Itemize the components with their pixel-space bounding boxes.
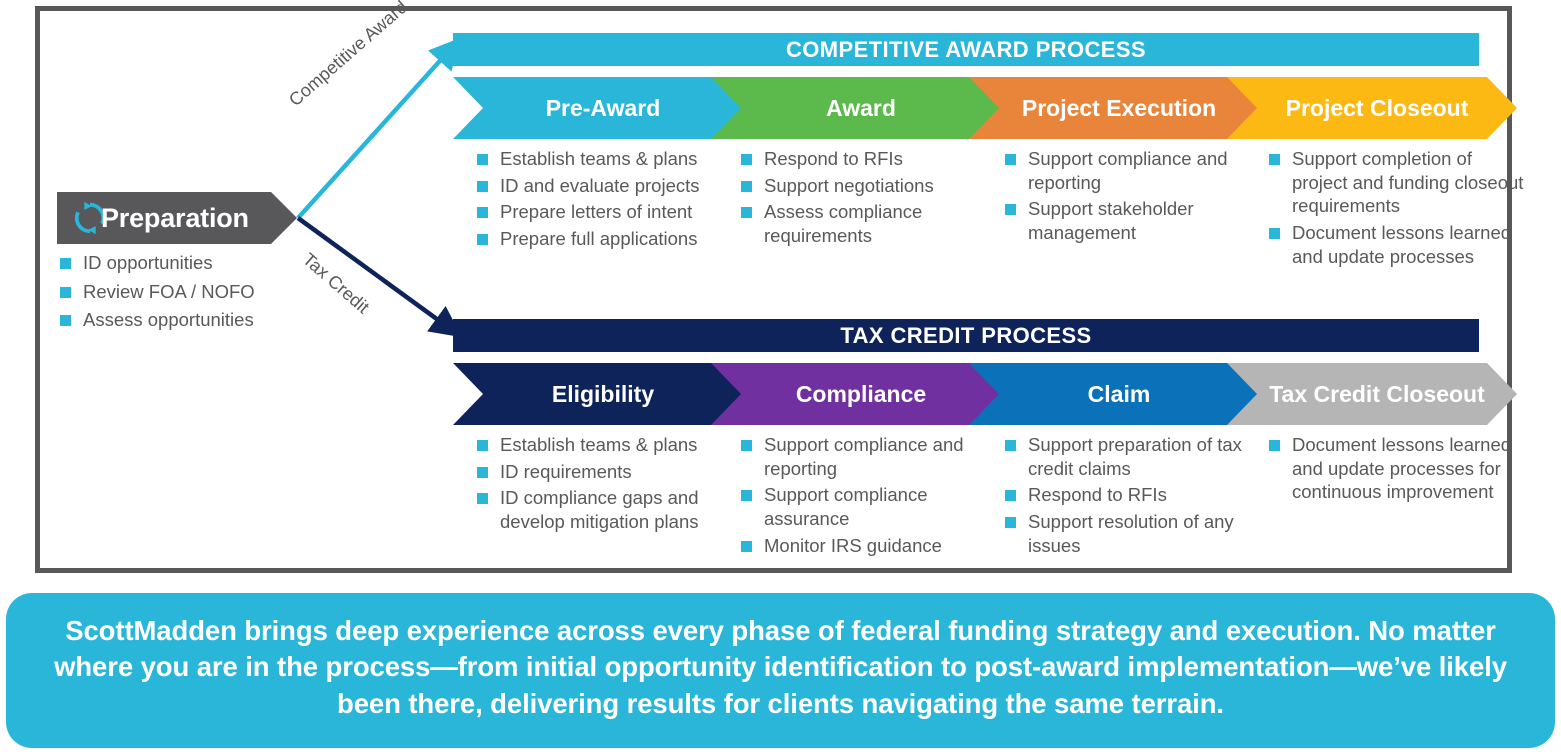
tax-credit-bullets: Establish teams & plans ID requirements … <box>477 433 1547 560</box>
competitive-award-bullets: Establish teams & plans ID and evaluate … <box>477 147 1547 271</box>
competitive-award-stage-row: Pre-Award Award Project Execution Projec… <box>453 77 1515 139</box>
list-item: Support preparation of tax credit claims <box>1005 433 1263 480</box>
list-item: Respond to RFIs <box>1005 483 1263 507</box>
list-item: Establish teams & plans <box>477 147 735 171</box>
competitive-award-header: COMPETITIVE AWARD PROCESS <box>453 33 1479 66</box>
diagram-panel: Preparation ID opportunities Review FOA … <box>35 6 1512 573</box>
list-item: ID compliance gaps and develop mitigatio… <box>477 486 735 533</box>
list-item: Support negotiations <box>741 174 999 198</box>
list-item: Document lessons learned and update proc… <box>1269 433 1527 504</box>
stage-chevron-project-execution[interactable]: Project Execution <box>969 77 1259 139</box>
list-item: ID opportunities <box>60 251 330 275</box>
preparation-stage-chevron[interactable]: Preparation <box>57 192 297 244</box>
bullet-column-compliance: Support compliance and reporting Support… <box>741 433 1005 560</box>
stage-chevron-tax-credit-closeout[interactable]: Tax Credit Closeout <box>1227 363 1517 425</box>
stage-chevron-pre-award[interactable]: Pre-Award <box>453 77 743 139</box>
bullet-column-claim: Support preparation of tax credit claims… <box>1005 433 1269 560</box>
list-item: Support resolution of any issues <box>1005 510 1263 557</box>
preparation-bullets: ID opportunities Review FOA / NOFO Asses… <box>60 251 330 332</box>
stage-chevron-eligibility[interactable]: Eligibility <box>453 363 743 425</box>
list-item: Respond to RFIs <box>741 147 999 171</box>
list-item: Establish teams & plans <box>477 433 735 457</box>
list-item: Document lessons learned and update proc… <box>1269 221 1527 268</box>
list-item: Assess opportunities <box>60 308 330 332</box>
list-item: Support compliance assurance <box>741 483 999 530</box>
stage-chevron-claim[interactable]: Claim <box>969 363 1259 425</box>
list-item: Support compliance and reporting <box>741 433 999 480</box>
stage-chevron-project-closeout[interactable]: Project Closeout <box>1227 77 1517 139</box>
list-item: Monitor IRS guidance <box>741 534 999 558</box>
bullet-column-eligibility: Establish teams & plans ID requirements … <box>477 433 741 560</box>
list-item: Prepare letters of intent <box>477 200 735 224</box>
connector-label-competitive-award: Competitive Award <box>285 0 412 111</box>
list-item: Support completion of project and fundin… <box>1269 147 1527 218</box>
list-item: ID requirements <box>477 460 735 484</box>
bullet-column-pre-award: Establish teams & plans ID and evaluate … <box>477 147 741 271</box>
bullet-column-project-closeout: Support completion of project and fundin… <box>1269 147 1533 271</box>
callout-banner: ScottMadden brings deep experience acros… <box>6 593 1555 748</box>
preparation-bullet-list: ID opportunities Review FOA / NOFO Asses… <box>60 251 330 337</box>
list-item: Prepare full applications <box>477 227 735 251</box>
bullet-column-tax-credit-closeout: Document lessons learned and update proc… <box>1269 433 1533 560</box>
list-item: Assess compliance requirements <box>741 200 999 247</box>
list-item: ID and evaluate projects <box>477 174 735 198</box>
list-item: Support stakeholder management <box>1005 197 1263 244</box>
tax-credit-stage-row: Eligibility Compliance Claim Tax Credit … <box>453 363 1515 425</box>
list-item: Support compliance and reporting <box>1005 147 1263 194</box>
callout-text: ScottMadden brings deep experience acros… <box>36 613 1525 723</box>
bullet-column-project-execution: Support compliance and reporting Support… <box>1005 147 1269 271</box>
bullet-column-award: Respond to RFIs Support negotiations Ass… <box>741 147 1005 271</box>
stage-chevron-award[interactable]: Award <box>711 77 1001 139</box>
stage-chevron-compliance[interactable]: Compliance <box>711 363 1001 425</box>
preparation-title: Preparation <box>101 203 249 234</box>
tax-credit-header: TAX CREDIT PROCESS <box>453 319 1479 352</box>
list-item: Review FOA / NOFO <box>60 280 330 304</box>
